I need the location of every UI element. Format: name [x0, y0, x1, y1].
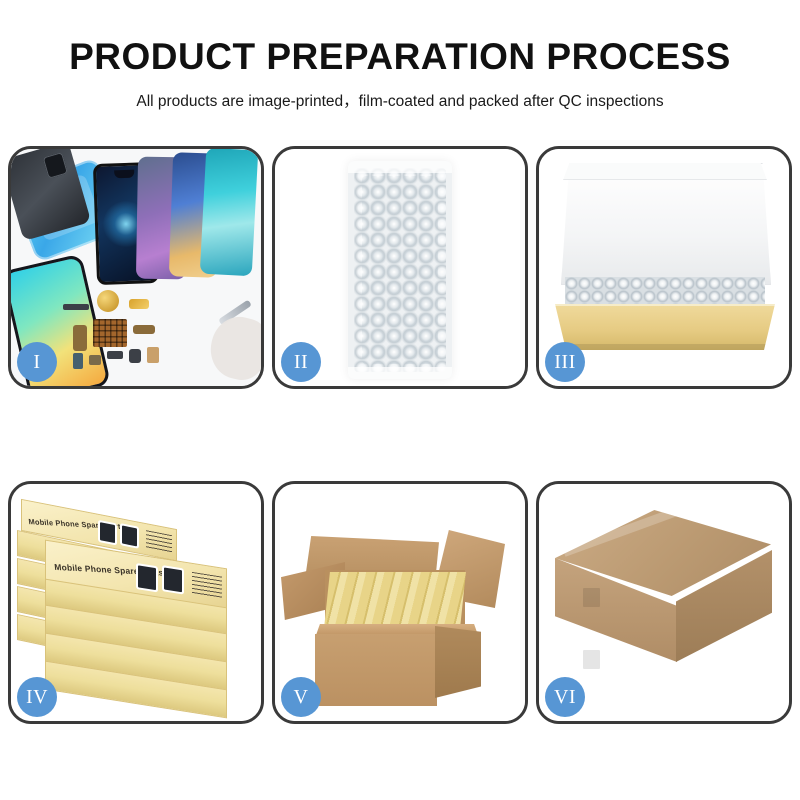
process-step-panel-2[interactable]: II: [272, 146, 528, 389]
kraft-box-base-icon: [555, 304, 775, 350]
bubble-wrapped-contents-icon: [565, 277, 765, 307]
pouch-bottom-seal: [348, 367, 452, 379]
process-step-panel-5[interactable]: V: [272, 481, 528, 724]
box-screen-photo-front-1: [138, 565, 156, 590]
carton-handle-notch-top: [583, 588, 600, 607]
page-subtitle: All products are image-printed，film-coat…: [0, 89, 800, 111]
white-box-lid-icon: [561, 163, 771, 285]
box-spec-lines-front: [192, 572, 222, 599]
bubble-wrap-pouch-icon: [348, 161, 452, 379]
carton-handle-notch-bottom: [583, 650, 600, 669]
bubble-highlight-layer: [362, 176, 438, 364]
product-preparation-infographic: PRODUCT PREPARATION PROCESS All products…: [0, 0, 800, 800]
process-step-panel-1[interactable]: I: [8, 146, 264, 389]
gold-flex-cable-icon: [129, 299, 149, 309]
step-badge-5: V: [281, 677, 321, 717]
carton-side-face: [435, 626, 481, 698]
step-badge-3: III: [545, 342, 585, 382]
pouch-top-seal: [348, 161, 452, 173]
box-screen-photo-back-2: [122, 525, 137, 546]
step-badge-6: VI: [545, 677, 585, 717]
packed-retail-boxes-icon: [324, 572, 466, 628]
connector-grid-icon: [93, 319, 127, 347]
small-ic-chip-icon: [107, 351, 123, 359]
sim-tray-icon: [73, 353, 83, 369]
step-badge-1: I: [17, 342, 57, 382]
technician-hand-icon: [204, 311, 261, 385]
box-screen-photo-back-1: [100, 522, 115, 543]
battery-connector-icon: [63, 304, 89, 310]
process-step-panel-3[interactable]: III: [536, 146, 792, 389]
speaker-coil-icon: [97, 290, 119, 312]
antenna-flex-icon: [133, 325, 155, 334]
box-screen-photo-front-2: [164, 567, 182, 592]
header: PRODUCT PREPARATION PROCESS All products…: [0, 0, 800, 111]
step-badge-2: II: [281, 342, 321, 382]
teal-phone-icon: [200, 149, 259, 276]
camera-module-icon: [129, 349, 141, 363]
battery-cell-icon: [147, 347, 159, 363]
process-step-panel-6[interactable]: VI: [536, 481, 792, 724]
page-title: PRODUCT PREPARATION PROCESS: [0, 38, 800, 75]
white-box-lid-fold: [561, 163, 769, 180]
side-flex-icon: [73, 325, 87, 351]
carton-front-face: [315, 634, 437, 706]
process-step-panel-4[interactable]: Mobile Phone Spare Parts Mobile Phone Sp…: [8, 481, 264, 724]
step-badge-4: IV: [17, 677, 57, 717]
process-steps-grid: I II III: [8, 146, 792, 724]
box-stack-group: Mobile Phone Spare Parts Mobile Phone Sp…: [15, 502, 257, 712]
vibration-motor-icon: [89, 355, 101, 365]
